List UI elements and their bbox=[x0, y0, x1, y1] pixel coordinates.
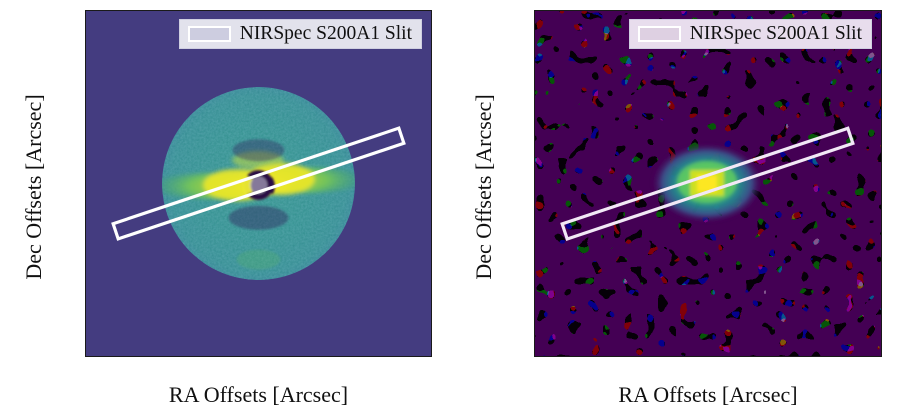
x-axis-title: RA Offsets [Arcsec] bbox=[85, 382, 432, 408]
coronagraph-image bbox=[86, 11, 431, 356]
legend-right: NIRSpec S200A1 Slit bbox=[629, 19, 872, 49]
legend-left: NIRSpec S200A1 Slit bbox=[179, 19, 422, 49]
legend-label: NIRSpec S200A1 Slit bbox=[690, 24, 862, 44]
slit-swatch-icon bbox=[188, 26, 231, 42]
panel-left: 2.0 1.5 1.0 0.5 0.0 −0.5 −1.0 −1.5 −2.0 … bbox=[0, 0, 450, 416]
x-axis-title: RA Offsets [Arcsec] bbox=[534, 382, 882, 408]
y-axis-title: Dec Offsets [Arcsec] bbox=[21, 22, 47, 352]
figure-root: 2.0 1.5 1.0 0.5 0.0 −0.5 −1.0 −1.5 −2.0 … bbox=[0, 0, 900, 416]
pixelated-source-image bbox=[535, 11, 881, 356]
plot-area-right: 2.0 1.5 1.0 0.5 0.0 −0.5 −1.0 −1.5 −2.0 … bbox=[534, 10, 882, 357]
legend-label: NIRSpec S200A1 Slit bbox=[240, 24, 412, 44]
panel-right: 2.0 1.5 1.0 0.5 0.0 −0.5 −1.0 −1.5 −2.0 … bbox=[450, 0, 900, 416]
plot-area-left: 2.0 1.5 1.0 0.5 0.0 −0.5 −1.0 −1.5 −2.0 … bbox=[85, 10, 432, 357]
slit-swatch-icon bbox=[638, 26, 681, 42]
y-axis-title: Dec Offsets [Arcsec] bbox=[471, 22, 497, 352]
